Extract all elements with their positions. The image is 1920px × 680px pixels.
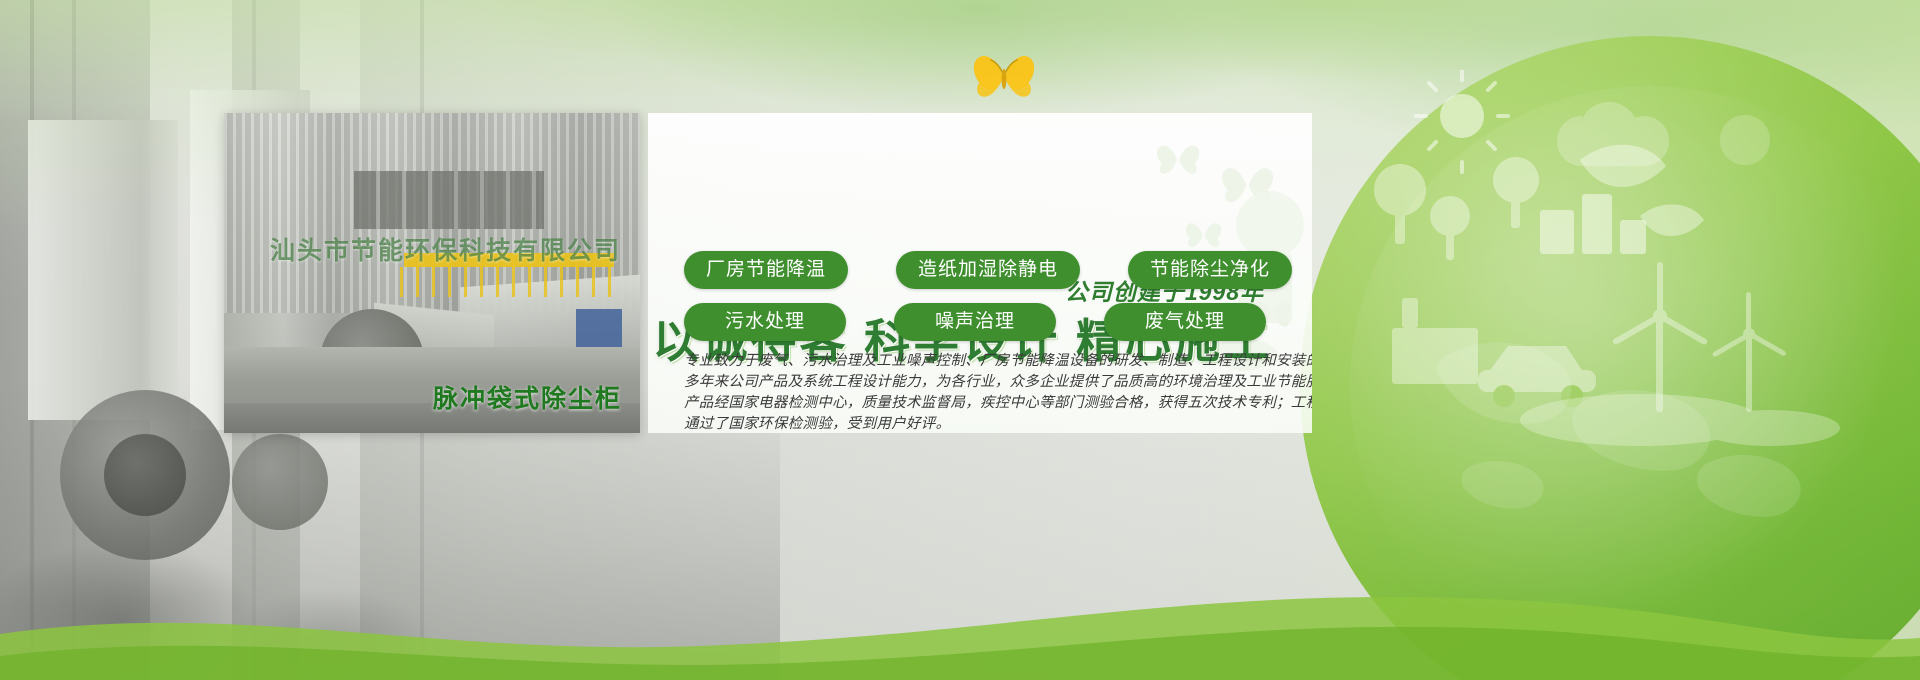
service-tag-row: 厂房节能降温 造纸加湿除静电 节能除尘净化: [684, 251, 1284, 289]
yellow-butterfly-icon: [972, 46, 1036, 108]
content-panel: 公司创建于1998年 以诚待客 科学设计 精心施工 厂房节能降温 造纸加湿除静电…: [648, 113, 1312, 433]
company-description: 专业致力于废气、污水治理及工业噪声控制、厂房节能降温设备的研发、制造、工程设计和…: [684, 351, 1310, 433]
service-tag-list: 厂房节能降温 造纸加湿除静电 节能除尘净化 污水处理 噪声治理 废气处理: [684, 251, 1284, 355]
service-tag-row: 污水处理 噪声治理 废气处理: [684, 303, 1284, 341]
photo-caption: 脉冲袋式除尘柜: [433, 379, 622, 415]
background-fan-small: [232, 434, 328, 530]
background-fan-hub: [104, 434, 186, 516]
product-photo-card: 汕头市节能环保科技有限公司 脉冲袋式除尘柜: [224, 113, 640, 433]
promo-banner: 汕头市节能环保科技有限公司 脉冲袋式除尘柜: [0, 0, 1920, 680]
service-tag[interactable]: 废气处理: [1104, 303, 1266, 341]
service-tag[interactable]: 污水处理: [684, 303, 846, 341]
description-line: 产品经国家电器检测中心，质量技术监督局，疾控中心等部门测验合格，获得五次技术专利…: [684, 393, 1310, 414]
description-line: 多年来公司产品及系统工程设计能力，为各行业，众多企业提供了品质高的环境治理及工业…: [684, 372, 1310, 393]
description-line: 专业致力于废气、污水治理及工业噪声控制、厂房节能降温设备的研发、制造、工程设计和…: [684, 351, 1310, 372]
background-duct-left: [28, 120, 178, 420]
service-tag[interactable]: 节能除尘净化: [1128, 251, 1292, 289]
description-line: 通过了国家环保检测验，受到用户好评。: [684, 414, 1310, 433]
factory-windows: [354, 171, 544, 229]
yellow-catwalk-rail: [400, 267, 616, 297]
service-tag[interactable]: 造纸加湿除静电: [896, 251, 1080, 289]
world-map-texture: [1410, 250, 1880, 580]
service-tag[interactable]: 噪声治理: [894, 303, 1056, 341]
service-tag[interactable]: 厂房节能降温: [684, 251, 848, 289]
photo-watermark: 汕头市节能环保科技有限公司: [270, 231, 630, 267]
